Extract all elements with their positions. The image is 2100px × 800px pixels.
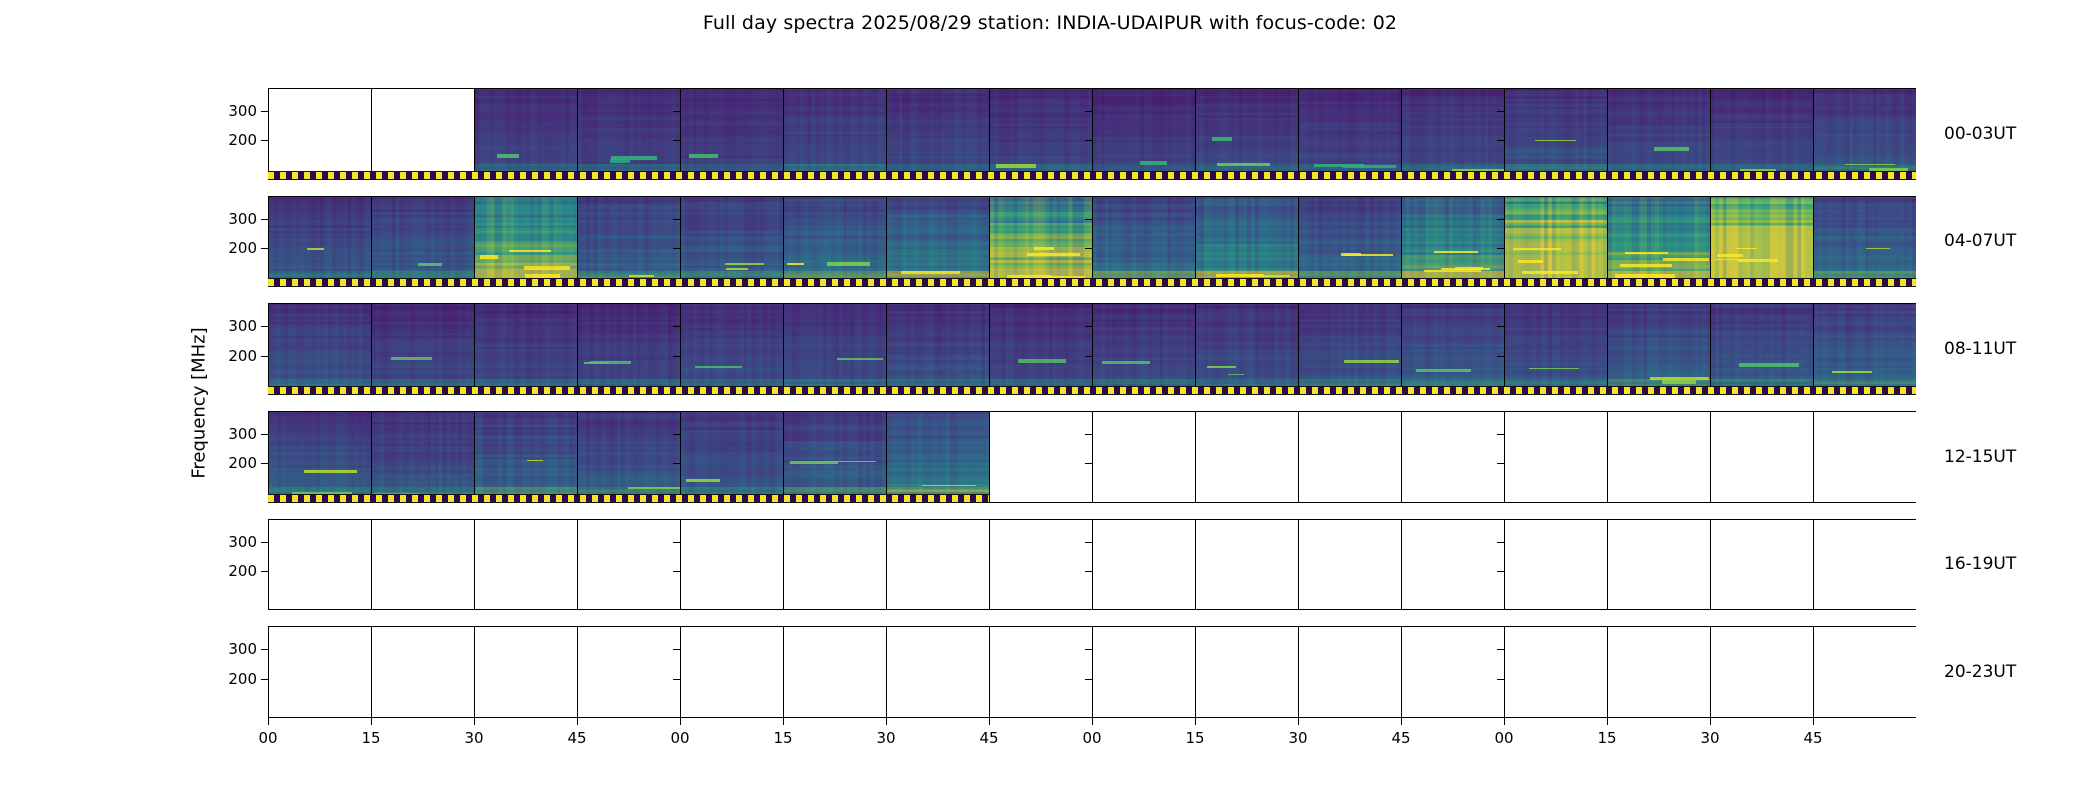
spectrogram-cell[interactable] [577,519,680,611]
spectrogram-cell[interactable] [1607,303,1710,395]
spectrogram-cell[interactable] [680,626,783,718]
spectrogram-cell[interactable] [1813,411,1916,503]
spectrogram-cell[interactable] [1195,196,1298,288]
spectrogram-tile [1299,196,1401,288]
y-tick-label: 200 [228,239,257,257]
spectrogram-tile [1402,196,1504,288]
row-time-label: 16-19UT [1944,554,2016,574]
y-tick-mark-inner [673,356,680,357]
spectrogram-tile [269,303,371,395]
spectrogram-cell[interactable] [886,626,989,718]
spectrogram-cell[interactable] [1195,411,1298,503]
spectrogram-tile [475,411,577,503]
spectrogram-cell[interactable] [1298,88,1401,180]
spectrogram-cell[interactable] [1607,626,1710,718]
x-tick-mark [1607,718,1608,725]
spectrogram-tile [681,411,783,503]
y-tick-mark [261,356,268,357]
y-tick-mark-inner [673,140,680,141]
x-tick-label: 45 [567,729,586,747]
y-axis-label: Frequency [MHz] [184,88,214,718]
spectrogram-cell[interactable] [1195,88,1298,180]
spectrogram-tile [990,196,1092,288]
spectrogram-tile [269,411,371,503]
y-tick-mark [261,571,268,572]
spectrogram-cell[interactable] [1195,303,1298,395]
y-tick-mark-inner [1085,434,1092,435]
frequency-marker-line [268,278,1916,287]
spectrogram-cell[interactable] [1813,519,1916,611]
spectrogram-tile [681,196,783,288]
spectrogram-cell[interactable] [989,411,1092,503]
spectrogram-tile [1711,88,1813,180]
y-tick-mark-inner [1085,649,1092,650]
spectrogram-cell[interactable] [1710,411,1813,503]
y-tick-label: 200 [228,454,257,472]
spectrogram-tile [1711,303,1813,395]
x-tick-label: 00 [670,729,689,747]
y-tick-mark [261,326,268,327]
y-tick-mark-inner [1497,111,1504,112]
spectrogram-cell[interactable] [1607,411,1710,503]
spectrogram-cell[interactable] [1298,626,1401,718]
y-tick-mark-inner [1085,463,1092,464]
spectrogram-cell[interactable] [268,303,371,395]
spectrogram-cell[interactable] [577,626,680,718]
spectrogram-cell[interactable] [1504,411,1607,503]
row-time-label: 20-23UT [1944,662,2016,682]
spectrogram-tile [887,88,989,180]
row-time-label: 12-15UT [1944,447,2016,467]
spectrogram-cell[interactable] [268,626,371,718]
spectrogram-tile [578,196,680,288]
x-tick-mark [1092,718,1093,725]
spectrogram-cell[interactable] [1504,196,1607,288]
page-title: Full day spectra 2025/08/29 station: IND… [0,12,2100,34]
y-tick-mark-inner [673,111,680,112]
spectrogram-tile [1196,303,1298,395]
spectrogram-tile [475,196,577,288]
spectrogram-cell[interactable] [783,411,886,503]
spectrogram-tile [1814,88,1916,180]
spectrogram-cell[interactable] [1504,88,1607,180]
spectrogram-cell[interactable] [474,519,577,611]
y-tick-mark-inner [1085,326,1092,327]
spectrogram-cell[interactable] [886,411,989,503]
spectrogram-tile [1093,303,1195,395]
spectrogram-cell[interactable] [1710,519,1813,611]
y-tick-mark-inner [1085,248,1092,249]
spectrogram-tile [1608,88,1710,180]
spectrogram-row: 30020008-11UT [268,303,1916,395]
x-tick-label: 15 [773,729,792,747]
spectrogram-cell[interactable] [680,411,783,503]
y-tick-mark-inner [673,542,680,543]
y-tick-mark-inner [1497,140,1504,141]
x-tick-label: 30 [464,729,483,747]
spectrogram-cell[interactable] [1504,626,1607,718]
spectrogram-tile [372,411,474,503]
y-tick-label: 200 [228,670,257,688]
spectrogram-tile [1814,303,1916,395]
spectrogram-cell[interactable] [268,519,371,611]
y-tick-mark [261,542,268,543]
y-axis-label-text: Frequency [MHz] [189,327,210,478]
x-tick-label: 45 [1391,729,1410,747]
x-tick-label: 00 [1082,729,1101,747]
spectrogram-cell[interactable] [1607,196,1710,288]
x-tick-mark [1710,718,1711,725]
y-tick-mark-inner [1085,356,1092,357]
y-tick-mark-inner [673,219,680,220]
spectrogram-tile [578,303,680,395]
spectrogram-cell[interactable] [783,88,886,180]
spectrogram-tile [1196,88,1298,180]
y-tick-label: 300 [228,102,257,120]
x-tick-label: 15 [361,729,380,747]
spectrogram-cell[interactable] [371,303,474,395]
spectrogram-row: 30020016-19UT [268,519,1916,611]
x-tick-label: 15 [1597,729,1616,747]
y-tick-mark [261,463,268,464]
x-tick-mark [1504,718,1505,725]
spectrogram-cell[interactable] [1195,626,1298,718]
spectrogram-row: 30020004-07UT [268,196,1916,288]
spectrogram-cell[interactable] [1710,303,1813,395]
spectrogram-cell[interactable] [989,519,1092,611]
spectrogram-cell[interactable] [1298,519,1401,611]
y-tick-mark-inner [673,326,680,327]
spectrogram-cell[interactable] [1401,196,1504,288]
spectrogram-cell[interactable] [1401,303,1504,395]
spectrogram-tile [784,411,886,503]
x-tick-label: 00 [258,729,277,747]
x-tick-mark [371,718,372,725]
y-tick-mark-inner [673,679,680,680]
spectrogram-cell[interactable] [1401,626,1504,718]
y-tick-mark-inner [1497,463,1504,464]
x-tick-mark [680,718,681,725]
spectrogram-grid: 30020000-03UT30020004-07UT30020008-11UT3… [268,88,1916,718]
spectrogram-tile [1608,303,1710,395]
spectrogram-tile [1711,196,1813,288]
y-tick-mark-inner [1085,679,1092,680]
y-tick-mark-inner [673,463,680,464]
y-tick-label: 200 [228,131,257,149]
spectrogram-tile [1299,88,1401,180]
y-tick-mark-inner [1085,542,1092,543]
row-time-label: 04-07UT [1944,231,2016,251]
spectrogram-tile [887,196,989,288]
spectrogram-tile [990,88,1092,180]
x-tick-label: 00 [1494,729,1513,747]
spectrogram-cell[interactable] [1298,411,1401,503]
spectrogram-tile [1505,196,1607,288]
y-tick-label: 300 [228,533,257,551]
y-tick-mark-inner [673,649,680,650]
y-tick-mark-inner [1497,219,1504,220]
spectrogram-tile [1505,88,1607,180]
y-tick-mark-inner [673,434,680,435]
y-tick-mark-inner [1085,140,1092,141]
y-tick-label: 300 [228,210,257,228]
spectrogram-cell[interactable] [577,303,680,395]
y-tick-mark [261,140,268,141]
spectrogram-cell[interactable] [474,626,577,718]
spectrogram-tile [1402,303,1504,395]
spectrogram-cell[interactable] [989,88,1092,180]
spectrogram-tile [1196,196,1298,288]
spectrogram-cell[interactable] [886,303,989,395]
x-tick-mark [783,718,784,725]
spectrogram-cell[interactable] [1504,303,1607,395]
spectrogram-cell[interactable] [474,411,577,503]
y-tick-label: 300 [228,317,257,335]
spectrogram-cell[interactable] [1298,303,1401,395]
spectrogram-cell[interactable] [474,196,577,288]
spectrogram-cell[interactable] [1813,88,1916,180]
spectrogram-tile [784,196,886,288]
spectrogram-cell[interactable] [1607,519,1710,611]
spectrogram-tile [578,411,680,503]
spectrogram-cell[interactable] [268,196,371,288]
spectrogram-cell[interactable] [783,626,886,718]
spectrogram-cell[interactable] [474,88,577,180]
spectrogram-tile [1093,88,1195,180]
row-time-label: 00-03UT [1944,124,2016,144]
spectrogram-row: 30020012-15UT [268,411,1916,503]
x-axis: 00153045001530450015304500153045 [268,718,1916,766]
spectrogram-tile [1402,88,1504,180]
spectrogram-tile [990,303,1092,395]
spectrogram-tile [1608,196,1710,288]
y-tick-mark-inner [673,571,680,572]
spectrogram-cell[interactable] [680,196,783,288]
spectrogram-tile [1814,196,1916,288]
spectrogram-tile [1505,303,1607,395]
spectrogram-cell[interactable] [1092,196,1195,288]
spectrogram-cell[interactable] [886,519,989,611]
spectrogram-cell[interactable] [783,303,886,395]
spectrogram-tile [475,88,577,180]
spectrogram-tile [887,303,989,395]
spectrogram-cell[interactable] [1298,196,1401,288]
spectrogram-tile [784,88,886,180]
x-tick-mark [886,718,887,725]
frequency-marker-line [268,494,989,503]
y-tick-mark [261,679,268,680]
spectrogram-tile [475,303,577,395]
spectrogram-cell[interactable] [371,626,474,718]
y-tick-mark-inner [1497,356,1504,357]
frequency-marker-line [268,171,1916,180]
y-tick-mark-inner [1085,571,1092,572]
spectrogram-tile [1299,303,1401,395]
x-tick-label: 30 [876,729,895,747]
spectrogram-cell[interactable] [1195,519,1298,611]
x-tick-mark [577,718,578,725]
spectrogram-cell[interactable] [989,303,1092,395]
spectrogram-cell[interactable] [1710,196,1813,288]
spectrogram-cell[interactable] [577,88,680,180]
y-tick-mark [261,434,268,435]
spectrogram-cell[interactable] [783,519,886,611]
spectrogram-cell[interactable] [1813,196,1916,288]
spectrogram-cell[interactable] [1092,303,1195,395]
spectrogram-cell[interactable] [371,196,474,288]
spectrogram-cell[interactable] [1092,411,1195,503]
y-tick-label: 200 [228,562,257,580]
spectrogram-cell[interactable] [1813,626,1916,718]
spectrogram-row: 30020020-23UT [268,626,1916,718]
spectrogram-cell[interactable] [1710,626,1813,718]
spectrogram-cell[interactable] [474,303,577,395]
x-tick-mark [1401,718,1402,725]
y-tick-mark-inner [1497,542,1504,543]
y-tick-label: 300 [228,425,257,443]
spectrogram-tile [578,88,680,180]
spectrogram-tile [784,303,886,395]
spectrogram-cell[interactable] [783,196,886,288]
spectrogram-cell[interactable] [268,411,371,503]
y-tick-mark-inner [1497,248,1504,249]
spectrogram-cell[interactable] [577,196,680,288]
x-tick-label: 45 [1803,729,1822,747]
spectrogram-tile [372,303,474,395]
spectrogram-cell[interactable] [1092,626,1195,718]
spectrogram-cell[interactable] [1504,519,1607,611]
spectrogram-cell[interactable] [680,519,783,611]
y-tick-mark-inner [673,248,680,249]
spectrogram-cell[interactable] [680,303,783,395]
x-tick-label: 45 [979,729,998,747]
y-tick-mark [261,248,268,249]
spectrogram-cell[interactable] [1401,519,1504,611]
y-tick-mark-inner [1497,571,1504,572]
y-tick-mark-inner [1497,679,1504,680]
spectrogram-cell[interactable] [989,626,1092,718]
spectrogram-cell[interactable] [1401,411,1504,503]
spectrogram-tile [681,303,783,395]
y-tick-mark-inner [1497,649,1504,650]
spectrogram-cell[interactable] [371,519,474,611]
spectrogram-row: 30020000-03UT [268,88,1916,180]
x-tick-label: 15 [1185,729,1204,747]
y-tick-mark [261,219,268,220]
spectrogram-cell[interactable] [1710,88,1813,180]
spectrogram-cell[interactable] [371,88,474,180]
frequency-marker-line [268,386,1916,395]
spectrogram-cell[interactable] [1813,303,1916,395]
spectrogram-tile [269,196,371,288]
x-tick-label: 30 [1700,729,1719,747]
spectrogram-cell[interactable] [989,196,1092,288]
x-tick-mark [474,718,475,725]
spectrogram-cell[interactable] [1092,88,1195,180]
y-tick-label: 200 [228,347,257,365]
spectrogram-cell[interactable] [680,88,783,180]
x-tick-mark [989,718,990,725]
x-tick-label: 30 [1288,729,1307,747]
y-tick-mark [261,111,268,112]
spectrogram-cell[interactable] [268,88,371,180]
spectrogram-cell[interactable] [1092,519,1195,611]
spectrogram-cell[interactable] [1401,88,1504,180]
y-tick-label: 300 [228,640,257,658]
row-time-label: 08-11UT [1944,339,2016,359]
spectrogram-cell[interactable] [1607,88,1710,180]
spectrogram-tile [681,88,783,180]
x-tick-mark [1298,718,1299,725]
x-tick-mark [1195,718,1196,725]
y-tick-mark-inner [1085,219,1092,220]
y-tick-mark [261,649,268,650]
spectrogram-tile [372,196,474,288]
spectrogram-tile [1093,196,1195,288]
y-tick-mark-inner [1497,326,1504,327]
spectrogram-tile [887,411,989,503]
x-tick-mark [1813,718,1814,725]
x-tick-mark [268,718,269,725]
figure-canvas: Full day spectra 2025/08/29 station: IND… [0,0,2100,800]
y-tick-mark-inner [1085,111,1092,112]
spectrogram-cell[interactable] [577,411,680,503]
spectrogram-cell[interactable] [886,196,989,288]
y-tick-mark-inner [1497,434,1504,435]
spectrogram-cell[interactable] [371,411,474,503]
spectrogram-cell[interactable] [886,88,989,180]
